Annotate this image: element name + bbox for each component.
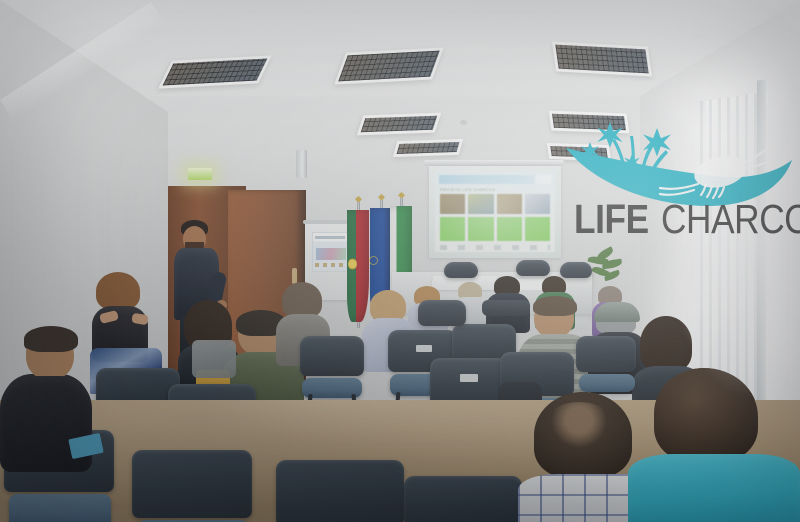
flag-portugal — [355, 196, 362, 203]
flag-cloth — [347, 210, 369, 322]
logo-word-life: LIFE — [574, 196, 649, 242]
flag-regional — [398, 192, 405, 199]
ceiling-smoke-detector — [460, 120, 467, 125]
wall-speaker-icon — [296, 150, 307, 178]
projection-glow — [429, 166, 561, 258]
flag-european-union — [378, 194, 385, 201]
photograph-life-charcos-session: PROJETO LIFE CHARCOS — [0, 0, 800, 522]
life-charcos-logo: LIFECHARCOS — [560, 118, 795, 258]
poster-title-bar — [315, 236, 345, 239]
chair-back-far — [482, 300, 530, 316]
ceiling-light-icon — [334, 47, 444, 84]
ceiling-light-icon — [393, 139, 464, 157]
poster-logo-row — [315, 263, 345, 267]
logo-wordmark: LIFECHARCOS — [574, 196, 788, 242]
logo-word-charcos: CHARCOS — [661, 196, 800, 242]
ceiling-light-icon — [357, 113, 441, 136]
emergency-exit-sign — [188, 168, 212, 180]
poster-image — [316, 248, 346, 260]
jacket-on-chair — [192, 340, 236, 378]
